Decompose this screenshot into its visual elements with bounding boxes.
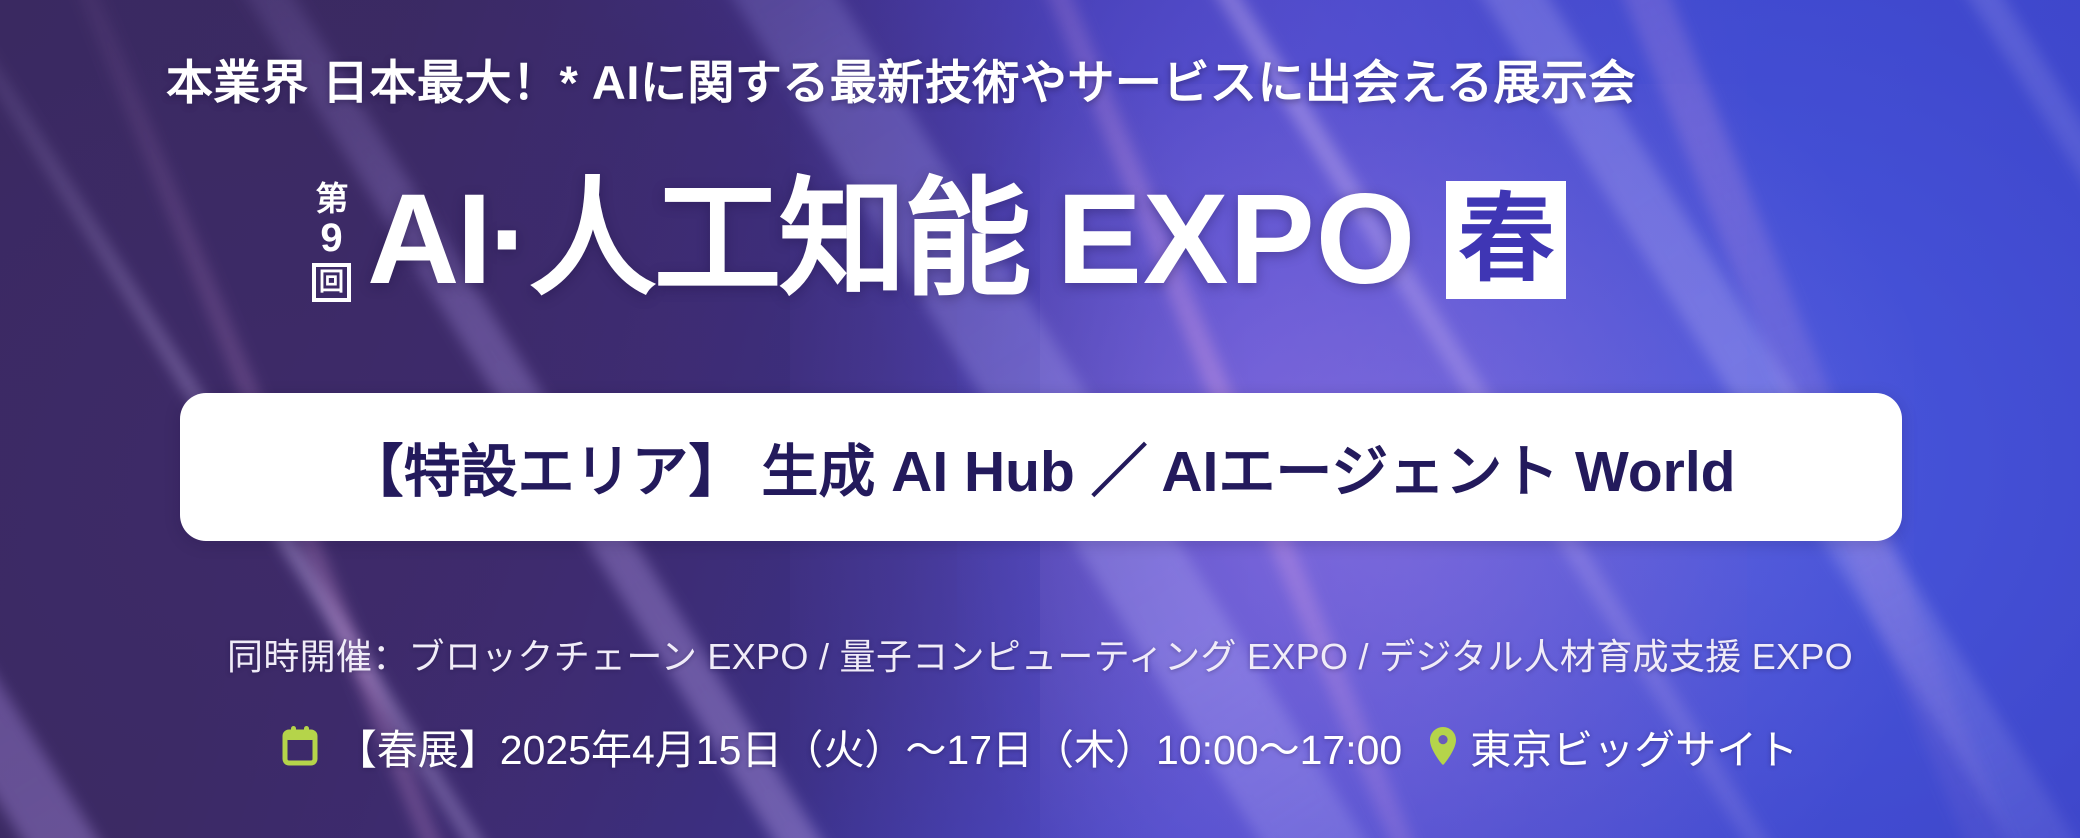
special-area-banner[interactable]: 【特設エリア】 生成 AI Hub ／ AIエージェント World — [180, 393, 1902, 541]
event-logo-lockup: 第 9 回 AI·人工知能 EXPO 春 — [312, 160, 1566, 320]
schedule-line: 【春展】2025年4月15日（火）〜17日（木）10:00〜17:00 東京ビッ… — [0, 716, 2080, 776]
special-area-label: 【特設エリア】 生成 AI Hub ／ AIエージェント World — [347, 426, 1736, 508]
venue-label: 東京ビッグサイト — [1470, 716, 1798, 776]
event-title-jp: AI·人工知能 — [367, 176, 1029, 304]
season-badge-label: 春 — [1458, 192, 1554, 288]
schedule-date-label: 【春展】2025年4月15日（火）〜17日（木）10:00〜17:00 — [336, 716, 1402, 776]
edition-suffix-label: 回 — [312, 263, 351, 302]
hero-headline: 本業界 日本最大！* AIに関する最新技術やサービスに出会える展示会 — [166, 44, 1636, 113]
season-badge: 春 — [1446, 181, 1566, 299]
concurrent-events-label: 同時開催：ブロックチェーン EXPO / 量子コンピューティング EXPO / … — [0, 628, 2080, 680]
edition-number-label: 9 — [320, 218, 342, 258]
event-title-en: EXPO — [1057, 176, 1417, 304]
map-pin-icon — [1428, 726, 1458, 766]
calendar-icon — [282, 726, 318, 766]
edition-prefix-label: 第 — [316, 182, 348, 215]
hero-content: 本業界 日本最大！* AIに関する最新技術やサービスに出会える展示会 第 9 回… — [0, 0, 2080, 838]
event-hero-banner: 本業界 日本最大！* AIに関する最新技術やサービスに出会える展示会 第 9 回… — [0, 0, 2080, 838]
edition-badge: 第 9 回 — [312, 182, 351, 302]
